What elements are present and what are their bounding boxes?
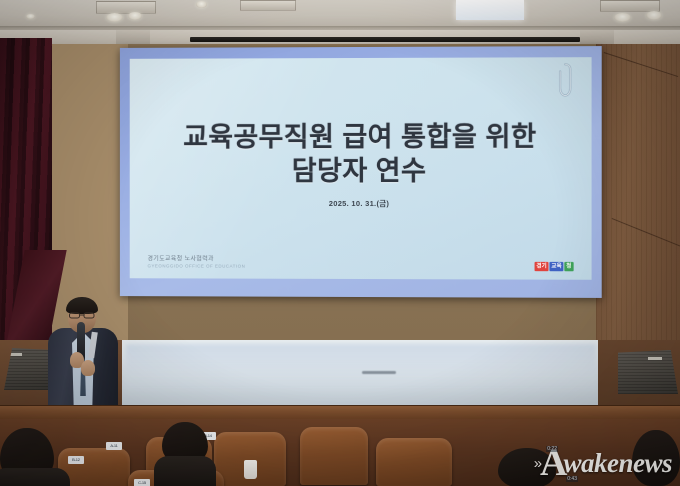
slide-date: 2025. 10. 31.(금) — [130, 198, 592, 209]
watermark-badge-1: 0:22 — [546, 446, 558, 452]
slide-organization-subtitle: GYEONGGIDO OFFICE OF EDUCATION — [147, 263, 245, 268]
logo-block-1: 경기 — [535, 262, 549, 271]
gyeonggi-education-logo: 경기 교육 청 — [535, 262, 574, 271]
slide-title-line-2: 담당자 연수 — [130, 154, 592, 188]
slide-title-line-1: 교육공무직원 급여 통합을 위한 — [130, 120, 592, 155]
ceiling-light-2 — [128, 12, 142, 20]
stage-monitor-right — [618, 350, 678, 394]
right-wall-panel — [596, 44, 680, 344]
glasses-icon — [69, 312, 95, 319]
audience-hair — [498, 448, 556, 486]
ceiling-light-4 — [614, 13, 631, 22]
seat-tag: B-12 — [68, 456, 84, 464]
monitor-right-label — [648, 357, 662, 360]
slide-organization: 경기도교육청 노사협력과 GYEONGGIDO OFFICE OF EDUCAT… — [147, 253, 245, 268]
audience-hair — [632, 430, 680, 486]
ceiling-light-6 — [26, 14, 35, 19]
screen-housing-slot — [190, 37, 580, 42]
ceiling-light-3 — [196, 1, 207, 8]
paperclip-icon — [557, 61, 573, 99]
ceiling-light-5 — [646, 11, 662, 20]
speaker-hand-right — [81, 360, 95, 376]
slide-organization-name: 경기도교육청 노사협력과 — [147, 253, 245, 262]
projection-screen: 교육공무직원 급여 통합을 위한 담당자 연수 2025. 10. 31.(금)… — [120, 46, 602, 298]
floor-reflection — [126, 344, 596, 400]
presentation-slide: 교육공무직원 급여 통합을 위한 담당자 연수 2025. 10. 31.(금)… — [130, 57, 592, 280]
paper-cup — [244, 460, 257, 479]
audience-body — [0, 468, 70, 486]
watermark-badge-2: 0:43 — [566, 476, 578, 482]
ceiling-light-1 — [106, 13, 123, 22]
audience-body — [154, 456, 216, 486]
ceiling-skylight — [456, 0, 524, 20]
ceiling-seam — [0, 26, 680, 29]
screenshot-root: 교육공무직원 급여 통합을 위한 담당자 연수 2025. 10. 31.(금)… — [0, 0, 680, 486]
seat-back — [300, 427, 368, 485]
slide-title: 교육공무직원 급여 통합을 위한 담당자 연수 — [130, 120, 592, 188]
logo-block-2: 교육 — [550, 262, 564, 271]
logo-block-3: 청 — [565, 262, 574, 271]
seat-tag: C-15 — [134, 479, 150, 486]
ceiling-vent-2 — [240, 0, 296, 11]
ceiling-vent-1 — [96, 1, 156, 14]
seat-tag: A-11 — [106, 442, 122, 450]
floor-smudge — [362, 371, 396, 374]
seat-back — [376, 438, 452, 486]
